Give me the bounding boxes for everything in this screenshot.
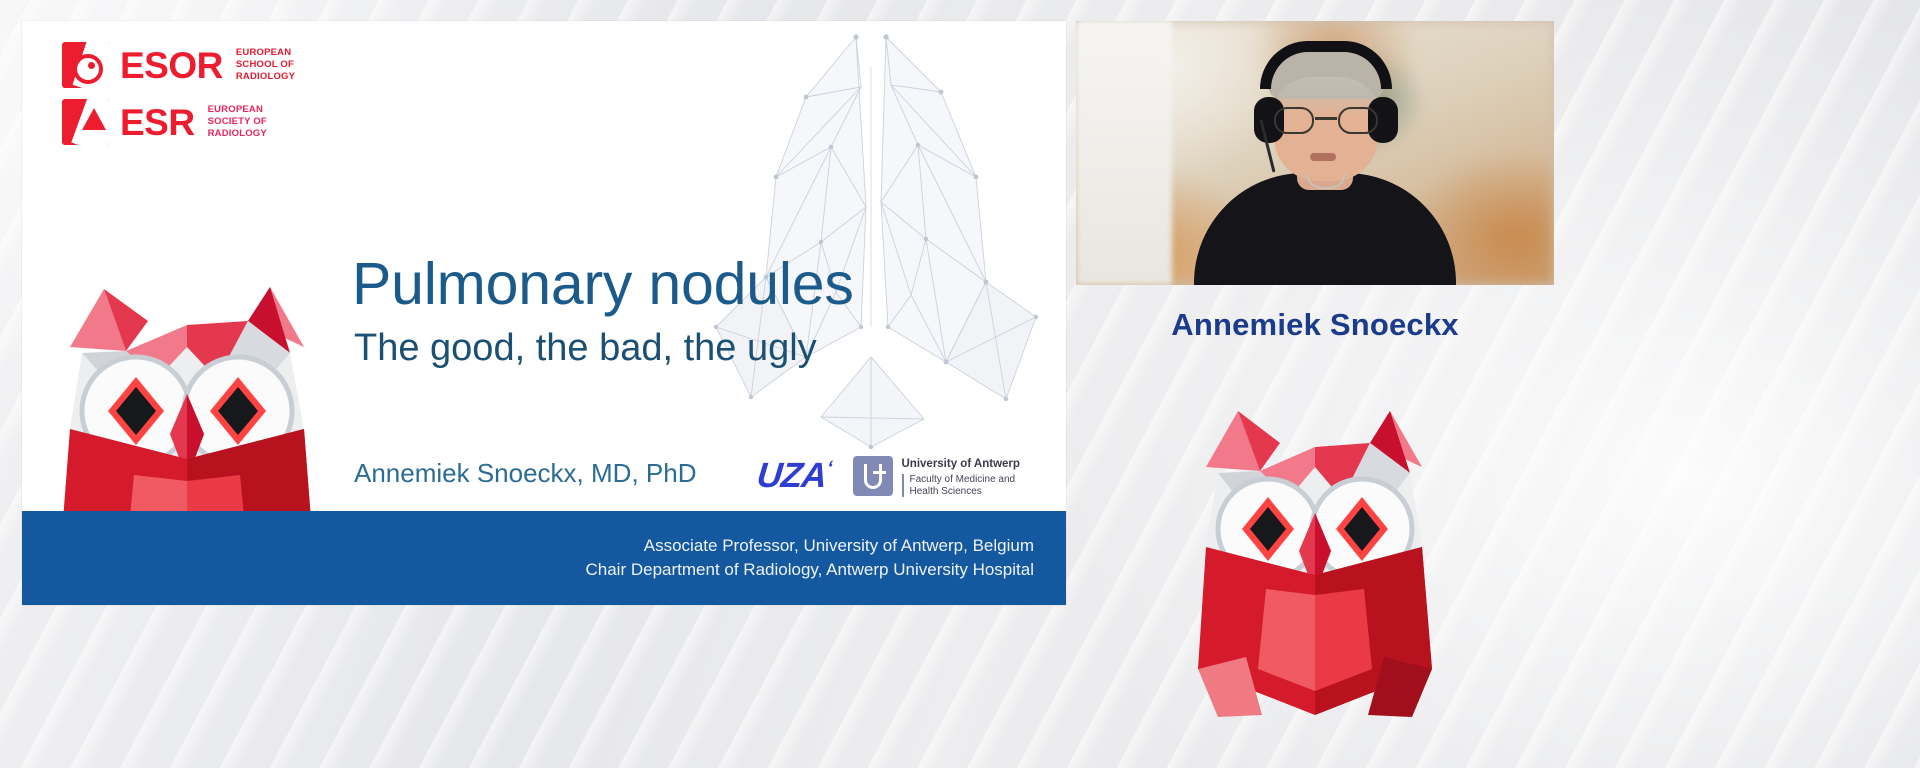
partner-logos: UZA‘ University of Antwerp Faculty of Me… xyxy=(757,454,1020,497)
esor-tagline-line-1: EUROPEAN xyxy=(236,47,295,59)
esor-tagline-line-3: RADIOLOGY xyxy=(236,71,295,83)
slide-title: Pulmonary nodules xyxy=(352,255,854,314)
ua-faculty: Faculty of Medicine and Health Sciences xyxy=(902,474,1020,498)
esor-logo: ESOR EUROPEAN SCHOOL OF RADIOLOGY xyxy=(62,42,295,88)
uza-wordmark: UZA xyxy=(755,456,828,495)
esr-tagline-line-1: EUROPEAN xyxy=(208,104,267,116)
esr-tagline: EUROPEAN SOCIETY OF RADIOLOGY xyxy=(208,104,267,140)
university-of-antwerp-logo: University of Antwerp Faculty of Medicin… xyxy=(853,454,1020,497)
esr-tagline-line-2: SOCIETY OF xyxy=(208,116,267,128)
slide-subtitle: The good, the bad, the ugly xyxy=(354,329,817,367)
webcam-video-tile[interactable] xyxy=(1076,21,1554,285)
esr-tagline-line-3: RADIOLOGY xyxy=(208,128,267,140)
speaker-name-label: Annemiek Snoeckx xyxy=(1076,307,1554,343)
ua-name: University of Antwerp xyxy=(902,458,1020,470)
speaker-mouth xyxy=(1310,153,1336,161)
speaker-figure xyxy=(1194,53,1456,285)
glasses-lens-left xyxy=(1274,107,1314,134)
esor-wordmark: ESOR xyxy=(120,47,223,84)
slide-author: Annemiek Snoeckx, MD, PhD xyxy=(354,458,696,489)
esor-tagline: EUROPEAN SCHOOL OF RADIOLOGY xyxy=(236,47,295,83)
footer-line-2: Chair Department of Radiology, Antwerp U… xyxy=(586,558,1035,582)
esr-star-icon xyxy=(82,108,106,130)
owl-mascot-panel xyxy=(1190,357,1440,717)
esor-tagline-line-2: SCHOOL OF xyxy=(236,59,295,71)
esr-wordmark: ESR xyxy=(120,104,195,141)
esor-aperture-dot-icon xyxy=(88,62,95,69)
glasses-bridge xyxy=(1315,117,1337,120)
footer-line-1: Associate Professor, University of Antwe… xyxy=(644,534,1034,558)
webcam-wall xyxy=(1076,21,1172,285)
slide-area[interactable]: ESOR EUROPEAN SCHOOL OF RADIOLOGY ESR EU… xyxy=(22,21,1066,605)
esr-mark-icon xyxy=(62,99,110,145)
slide-footer-band: Associate Professor, University of Antwe… xyxy=(22,511,1066,605)
esor-esr-logo-block: ESOR EUROPEAN SCHOOL OF RADIOLOGY ESR EU… xyxy=(62,42,295,156)
esr-logo: ESR EUROPEAN SOCIETY OF RADIOLOGY xyxy=(62,99,295,145)
esor-mark-icon xyxy=(62,42,110,88)
presentation-viewport: ESOR EUROPEAN SCHOOL OF RADIOLOGY ESR EU… xyxy=(0,0,1920,768)
uza-accent-icon: ‘ xyxy=(826,457,833,479)
lungs-illustration xyxy=(656,27,1066,457)
glasses-icon xyxy=(1274,107,1378,135)
glasses-lens-right xyxy=(1338,107,1378,134)
speaker-panel: Annemiek Snoeckx xyxy=(1076,21,1554,747)
ua-monogram-icon xyxy=(853,456,893,496)
uza-logo: UZA‘ xyxy=(755,456,833,496)
